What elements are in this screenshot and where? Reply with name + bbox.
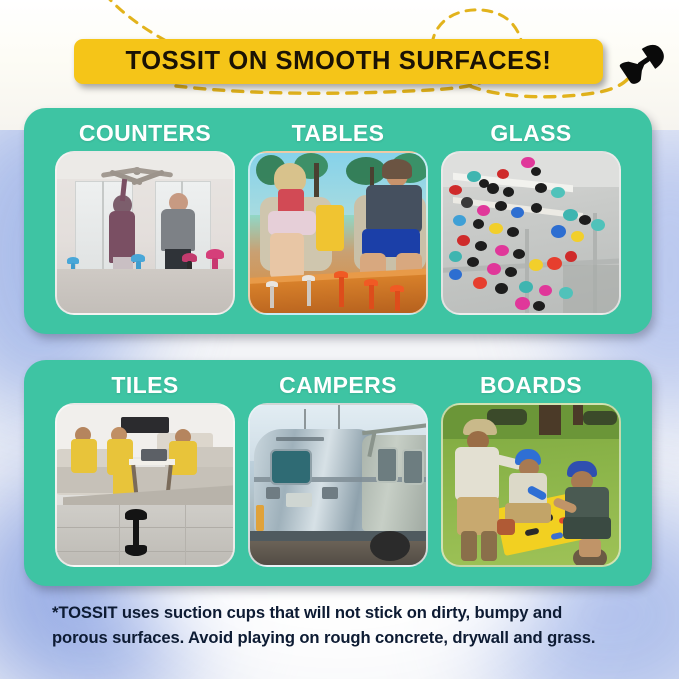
card-tables[interactable]: TABLES bbox=[248, 120, 428, 315]
card-counters[interactable]: COUNTERS bbox=[55, 120, 235, 315]
footer-disclaimer: *TOSSIT uses suction cups that will not … bbox=[52, 600, 632, 650]
bottom-panel: TILES bbox=[24, 360, 652, 586]
card-label-tables: TABLES bbox=[248, 120, 428, 146]
title-banner: TOSSIT ON SMOOTH SURFACES! bbox=[74, 39, 603, 84]
page-title: TOSSIT ON SMOOTH SURFACES! bbox=[126, 47, 552, 76]
bottom-panel-cards: TILES bbox=[24, 360, 652, 567]
photo-tables bbox=[248, 151, 428, 315]
card-label-campers: CAMPERS bbox=[248, 372, 428, 398]
header: TOSSIT ON SMOOTH SURFACES! bbox=[0, 0, 679, 112]
footer-line-1: *TOSSIT uses suction cups that will not … bbox=[52, 600, 632, 625]
photo-tiles bbox=[55, 403, 235, 567]
card-label-glass: GLASS bbox=[441, 120, 621, 146]
card-tiles[interactable]: TILES bbox=[55, 372, 235, 567]
footer-line-2: porous surfaces. Avoid playing on rough … bbox=[52, 625, 632, 650]
card-campers[interactable]: CAMPERS bbox=[248, 372, 428, 567]
top-panel-cards: COUNTERS bbox=[24, 108, 652, 315]
card-label-counters: COUNTERS bbox=[55, 120, 235, 146]
photo-boards bbox=[441, 403, 621, 567]
card-boards[interactable]: BOARDS bbox=[441, 372, 621, 567]
card-label-boards: BOARDS bbox=[441, 372, 621, 398]
card-label-tiles: TILES bbox=[55, 372, 235, 398]
top-panel: COUNTERS bbox=[24, 108, 652, 334]
photo-campers bbox=[248, 403, 428, 567]
tossit-piece-silhouette-icon bbox=[612, 36, 670, 92]
photo-counters bbox=[55, 151, 235, 315]
photo-glass bbox=[441, 151, 621, 315]
card-glass[interactable]: GLASS bbox=[441, 120, 621, 315]
